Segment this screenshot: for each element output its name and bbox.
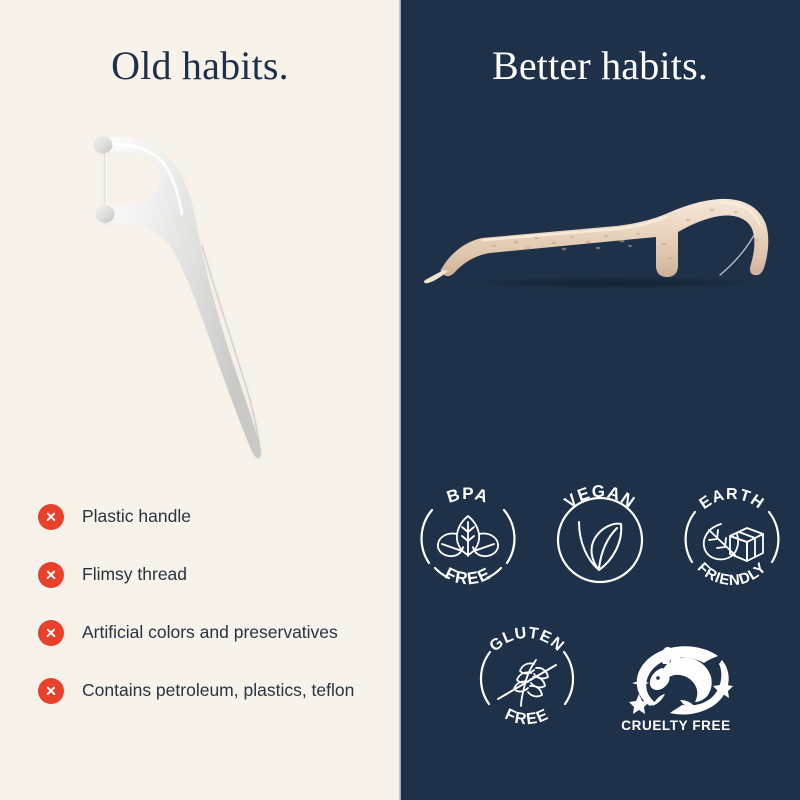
v-leaf-icon: [579, 522, 621, 570]
habits-comparison: Old habits.: [0, 0, 800, 800]
panel-divider: [399, 0, 401, 800]
badge-earth-friendly: EARTH FRIENDLY: [673, 478, 791, 596]
badge-bpa-free: BPA FREE: [409, 478, 527, 596]
svg-text:VEGAN: VEGAN: [561, 482, 639, 512]
panel-better-habits: Better habits.: [400, 0, 800, 800]
list-item-label: Contains petroleum, plastics, teflon: [82, 679, 354, 702]
badge-row-bottom: GLUTEN FREE: [400, 620, 800, 738]
badge-gluten-free: GLUTEN FREE: [468, 620, 586, 738]
list-item: Plastic handle: [38, 500, 368, 534]
wheat-slash-icon: [498, 660, 556, 706]
badge-top-label: EARTH: [697, 486, 768, 513]
page-title-better-habits: Better habits.: [400, 42, 800, 89]
svg-text:BPA: BPA: [444, 484, 491, 507]
x-circle-icon: [38, 562, 64, 588]
list-item: Flimsy thread: [38, 558, 368, 592]
svg-text:FREE: FREE: [502, 706, 552, 728]
badge-bottom-label: FREE: [442, 564, 494, 589]
cons-list: Plastic handle Flimsy thread Artificial …: [38, 500, 368, 708]
svg-text:FRIENDLY: FRIENDLY: [694, 559, 770, 589]
leaves-icon: [438, 516, 498, 556]
badge-bottom-label: FREE: [502, 706, 552, 728]
svg-text:GLUTEN: GLUTEN: [487, 625, 568, 656]
badge-bottom-label: CRUELTY FREE: [621, 718, 730, 733]
x-circle-icon: [38, 504, 64, 530]
x-circle-icon: [38, 678, 64, 704]
plastic-floss-pick-image: [78, 128, 328, 468]
leaf-box-icon: [704, 524, 763, 561]
svg-text:EARTH: EARTH: [697, 486, 768, 513]
page-title-old-habits: Old habits.: [0, 42, 400, 89]
list-item: Contains petroleum, plastics, teflon: [38, 674, 368, 708]
certification-badges: BPA FREE: [400, 478, 800, 738]
panel-old-habits: Old habits.: [0, 0, 400, 800]
list-item-label: Artificial colors and preservatives: [82, 621, 338, 644]
cornstarch-floss-pick-image: [420, 180, 790, 310]
list-item: Artificial colors and preservatives: [38, 616, 368, 650]
list-item-label: Flimsy thread: [82, 563, 187, 586]
badge-row-top: BPA FREE: [400, 478, 800, 596]
list-item-label: Plastic handle: [82, 505, 191, 528]
leaping-bunny-icon: [629, 646, 733, 714]
badge-cruelty-free: CRUELTY FREE: [610, 620, 742, 738]
badge-top-label: BPA: [444, 484, 491, 507]
badge-vegan: VEGAN: [541, 478, 659, 596]
badge-top-label: VEGAN: [561, 482, 639, 512]
badge-bottom-label: FRIENDLY: [694, 559, 770, 589]
svg-text:FREE: FREE: [442, 564, 494, 589]
badge-top-label: GLUTEN: [487, 625, 568, 656]
x-circle-icon: [38, 620, 64, 646]
